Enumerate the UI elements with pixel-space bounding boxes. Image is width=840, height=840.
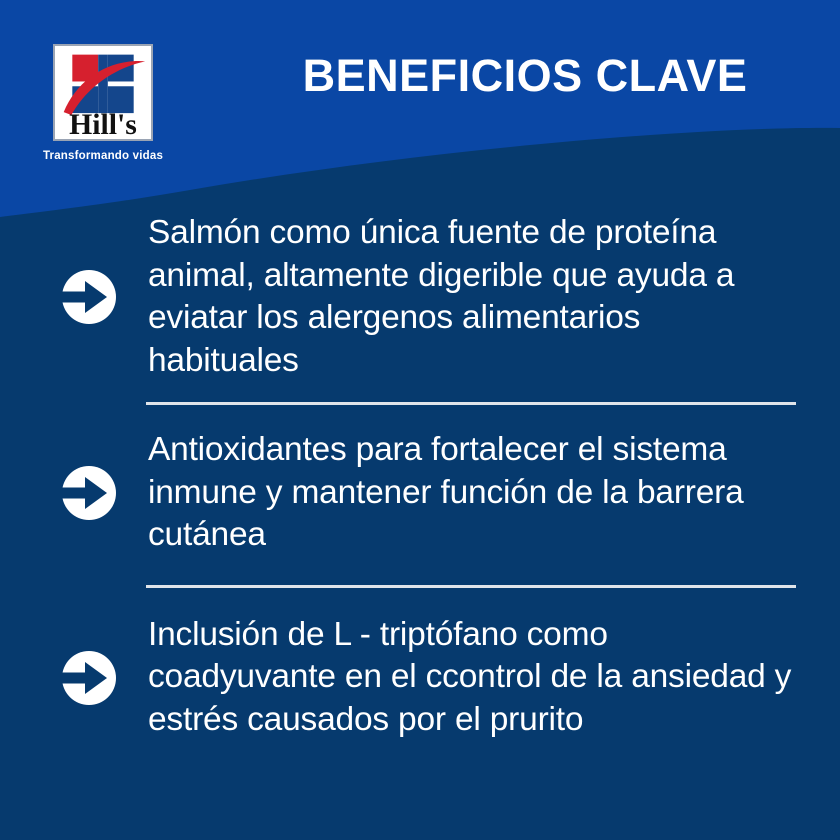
hills-logo-mark: Hill's xyxy=(53,44,153,141)
arrow-right-circle-icon xyxy=(62,651,116,705)
benefits-list: Salmón como única fuente de proteína ani… xyxy=(0,208,840,751)
arrow-right-circle-icon xyxy=(62,466,116,520)
benefit-text-1: Salmón como única fuente de proteína ani… xyxy=(148,212,796,382)
benefit-text-3: Inclusión de L - triptófano como coadyuv… xyxy=(148,614,796,742)
benefit-item-2: Antioxidantes para fortalecer el sistema… xyxy=(0,405,840,585)
benefit-text-2: Antioxidantes para fortalecer el sistema… xyxy=(148,429,796,557)
benefit-item-3: Inclusión de L - triptófano como coadyuv… xyxy=(0,588,840,752)
brand-logo: Hill's Transformando vidas xyxy=(33,44,173,162)
logo-tagline: Transformando vidas xyxy=(33,150,173,162)
page-title: BENEFICIOS CLAVE xyxy=(245,52,805,99)
benefits-infographic: Hill's Transformando vidas BENEFICIOS CL… xyxy=(0,0,840,840)
hills-wordmark: Hill's xyxy=(69,109,137,139)
benefit-item-1: Salmón como única fuente de proteína ani… xyxy=(0,208,840,402)
arrow-right-circle-icon xyxy=(62,270,116,324)
